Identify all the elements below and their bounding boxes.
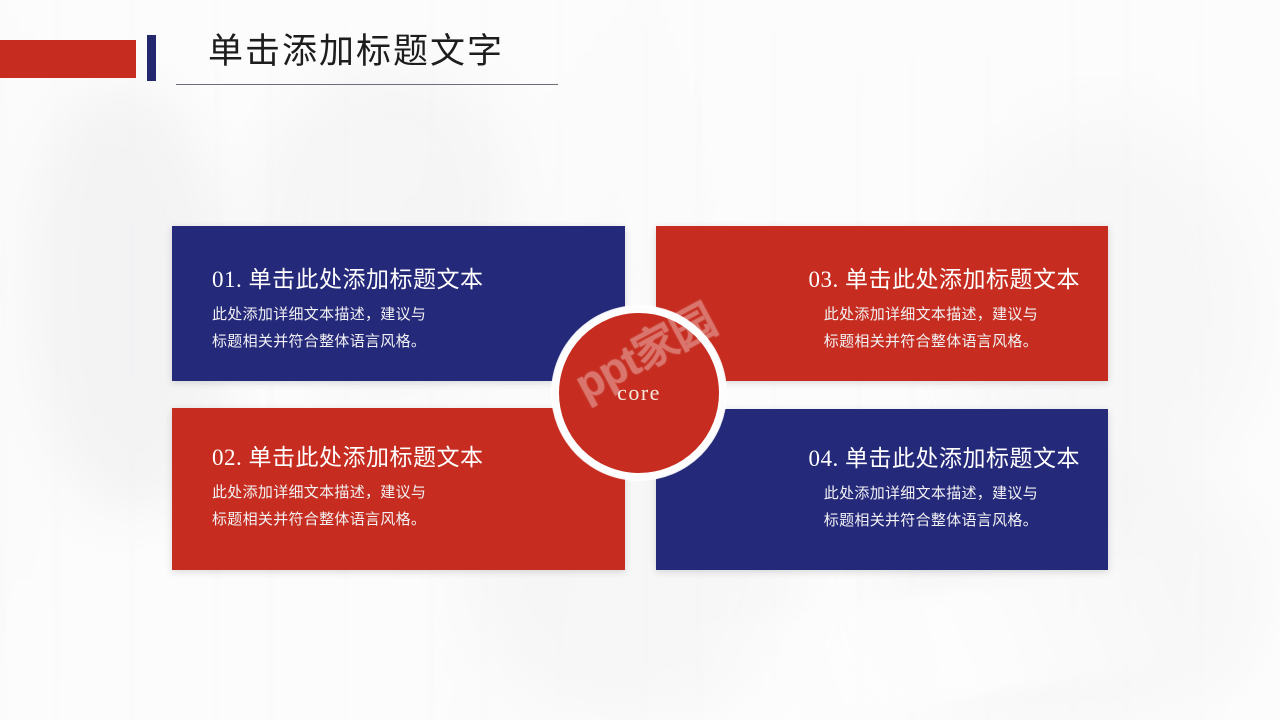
card-04-title[interactable]: 04. 单击此处添加标题文本 xyxy=(809,444,1081,474)
center-core-circle[interactable]: core xyxy=(552,306,726,480)
slide-header: 单击添加标题文字 xyxy=(0,0,1280,110)
card-01-description[interactable]: 此处添加详细文本描述，建议与 标题相关并符合整体语言风格。 xyxy=(212,302,426,356)
header-red-accent-block xyxy=(0,40,136,78)
card-02-description[interactable]: 此处添加详细文本描述，建议与 标题相关并符合整体语言风格。 xyxy=(212,480,426,534)
card-02-title[interactable]: 02. 单击此处添加标题文本 xyxy=(212,443,484,473)
card-03-description[interactable]: 此处添加详细文本描述，建议与 标题相关并符合整体语言风格。 xyxy=(824,302,1038,356)
card-03-title[interactable]: 03. 单击此处添加标题文本 xyxy=(809,265,1081,295)
content-card-02[interactable]: 02. 单击此处添加标题文本 此处添加详细文本描述，建议与 标题相关并符合整体语… xyxy=(172,408,625,570)
title-underline xyxy=(176,84,558,85)
page-title[interactable]: 单击添加标题文字 xyxy=(208,28,504,76)
card-01-title[interactable]: 01. 单击此处添加标题文本 xyxy=(212,265,484,295)
core-label: core xyxy=(617,381,661,405)
content-card-03[interactable]: 03. 单击此处添加标题文本 此处添加详细文本描述，建议与 标题相关并符合整体语… xyxy=(656,226,1108,381)
presentation-slide: 单击添加标题文字 01. 单击此处添加标题文本 此处添加详细文本描述，建议与 标… xyxy=(0,0,1280,720)
card-04-description[interactable]: 此处添加详细文本描述，建议与 标题相关并符合整体语言风格。 xyxy=(824,481,1038,535)
header-blue-accent-bar xyxy=(147,35,156,81)
content-card-04[interactable]: 04. 单击此处添加标题文本 此处添加详细文本描述，建议与 标题相关并符合整体语… xyxy=(656,409,1108,570)
content-card-01[interactable]: 01. 单击此处添加标题文本 此处添加详细文本描述，建议与 标题相关并符合整体语… xyxy=(172,226,625,381)
